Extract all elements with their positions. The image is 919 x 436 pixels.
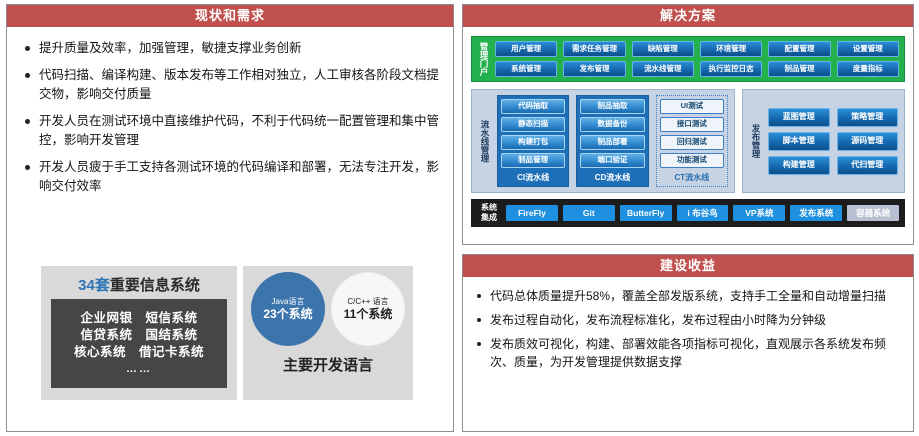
pipeline-management-box: 流水线管理 代码抽取 静态扫描 构建打包 制品管理 CI流水线 制品抽取 数据备… [471, 89, 735, 193]
portal-button[interactable]: 流水线管理 [632, 61, 694, 77]
pipeline-column-caption: CD流水线 [580, 172, 644, 183]
integration-button-git[interactable]: Git [563, 205, 615, 221]
status-bullet-list: 提升质量及效率，加强管理，敏捷支撑业务创新 代码扫描、编译构建、版本发布等工作相… [7, 29, 453, 196]
list-item: 企业网银 短信系统 [80, 310, 197, 327]
list-item: 核心系统 借记卡系统 [74, 344, 204, 361]
venn-circle-java: Java语言 23个系统 [251, 272, 325, 346]
release-button[interactable]: 脚本管理 [768, 132, 830, 151]
system-integration-button-row: FireFly Git ButterFly i 布谷鸟 VP系统 发布系统 容器… [506, 205, 899, 221]
integration-button-cuckoo[interactable]: i 布谷鸟 [677, 205, 729, 221]
management-portal-label: 管理门户 [477, 41, 490, 77]
ct-pipeline-column: UI测试 接口测试 回归测试 功能测试 CT流水线 [656, 95, 728, 187]
solution-panel-title: 解决方案 [463, 5, 913, 29]
bullet-dot-icon [25, 119, 30, 124]
pipeline-step[interactable]: 构建打包 [501, 135, 565, 150]
bullet-dot-icon [25, 46, 30, 51]
list-item: 发布过程自动化，发布流程标准化，发布过程由小时降为分钟级 [475, 311, 901, 329]
pipeline-step[interactable]: 功能测试 [660, 153, 724, 168]
pipeline-column-caption: CT流水线 [660, 172, 724, 183]
status-panel-title: 现状和需求 [7, 5, 453, 29]
important-systems-card: 34套重要信息系统 企业网银 短信系统 信贷系统 国结系统 核心系统 借记卡系统… [41, 266, 237, 400]
pipeline-step[interactable]: 数据备份 [580, 117, 644, 132]
portal-button[interactable]: 发布管理 [563, 61, 625, 77]
venn-caption: 主要开发语言 [243, 354, 413, 375]
system-name-list: 企业网银 短信系统 信贷系统 国结系统 核心系统 借记卡系统 …… [51, 299, 227, 388]
portal-button[interactable]: 执行监控日志 [700, 61, 762, 77]
system-integration-label-line2: 集成 [477, 213, 501, 223]
integration-button-butterfly[interactable]: ButterFly [620, 205, 672, 221]
pipeline-step[interactable]: UI测试 [660, 99, 724, 114]
release-management-box: 发布管理 蓝图管理 策略管理 脚本管理 源码管理 构建管理 代扫管理 [742, 89, 905, 193]
status-and-demand-panel: 现状和需求 提升质量及效率，加强管理，敏捷支撑业务创新 代码扫描、编译构建、版本… [6, 4, 454, 432]
slide-root: 现状和需求 提升质量及效率，加强管理，敏捷支撑业务创新 代码扫描、编译构建、版本… [0, 0, 919, 436]
systems-count-value: 34套 [78, 277, 110, 294]
portal-button[interactable]: 度量指标 [837, 61, 899, 77]
release-button[interactable]: 源码管理 [837, 132, 899, 151]
venn-cpp-label: C/C++ 语言 [347, 296, 388, 307]
important-systems-title: 34套重要信息系统 [51, 274, 227, 295]
middle-layer-row: 流水线管理 代码抽取 静态扫描 构建打包 制品管理 CI流水线 制品抽取 数据备… [471, 89, 905, 193]
release-button[interactable]: 代扫管理 [837, 156, 899, 175]
pipeline-management-label: 流水线管理 [478, 95, 491, 187]
list-item: 信贷系统 国结系统 [80, 327, 197, 344]
status-bullet-text: 提升质量及效率，加强管理，敏捷支撑业务创新 [39, 39, 302, 58]
portal-button[interactable]: 设置管理 [837, 41, 899, 57]
status-bullet-text: 代码扫描、编译构建、版本发布等工作相对独立，人工审核各阶段文档提交物，影响交付质… [39, 66, 439, 104]
release-management-label: 发布管理 [749, 95, 762, 187]
benefit-bullet-text: 发布质效可视化，构建、部署效能各项指标可视化，直观展示各系统发布频次、质量，为开… [490, 335, 901, 371]
integration-button-container[interactable]: 容器系统 [847, 205, 899, 221]
integration-button-vp[interactable]: VP系统 [733, 205, 785, 221]
list-item: 提升质量及效率，加强管理，敏捷支撑业务创新 [23, 39, 439, 58]
venn-java-value: 23个系统 [263, 307, 312, 322]
release-button[interactable]: 构建管理 [768, 156, 830, 175]
status-bullet-text: 开发人员在测试环境中直接维护代码，不利于代码统一配置管理和集中管控，影响开发管理 [39, 112, 439, 150]
system-integration-band: 系统 集成 FireFly Git ButterFly i 布谷鸟 VP系统 发… [471, 199, 905, 227]
portal-button[interactable]: 环境管理 [700, 41, 762, 57]
ci-pipeline-column: 代码抽取 静态扫描 构建打包 制品管理 CI流水线 [497, 95, 569, 187]
portal-button[interactable]: 用户管理 [495, 41, 557, 57]
portal-button[interactable]: 配置管理 [768, 41, 830, 57]
ellipsis-text: …… [126, 361, 152, 378]
solution-panel: 解决方案 管理门户 用户管理 需求任务管理 缺陷管理 环境管理 配置管理 设置管… [462, 4, 914, 245]
management-portal-band: 管理门户 用户管理 需求任务管理 缺陷管理 环境管理 配置管理 设置管理 系统管… [471, 36, 905, 82]
bullet-dot-icon [25, 165, 30, 170]
integration-button-release[interactable]: 发布系统 [790, 205, 842, 221]
pipeline-step[interactable]: 制品管理 [501, 153, 565, 168]
list-item: 开发人员疲于手工支持各测试环境的代码编译和部署，无法专注开发，影响交付效率 [23, 158, 439, 196]
statistics-graphic: 34套重要信息系统 企业网银 短信系统 信贷系统 国结系统 核心系统 借记卡系统… [41, 266, 413, 400]
system-integration-label: 系统 集成 [477, 203, 501, 223]
pipeline-step[interactable]: 端口验证 [580, 153, 644, 168]
benefit-bullet-text: 代码总体质量提升58%，覆盖全部发版系统，支持手工全量和自动增量扫描 [490, 287, 886, 305]
pipeline-step[interactable]: 制品部署 [580, 135, 644, 150]
portal-button[interactable]: 制品管理 [768, 61, 830, 77]
benefit-panel-title: 建设收益 [463, 255, 913, 279]
portal-button[interactable]: 需求任务管理 [563, 41, 625, 57]
pipeline-step[interactable]: 回归测试 [660, 135, 724, 150]
list-item: 代码总体质量提升58%，覆盖全部发版系统，支持手工全量和自动增量扫描 [475, 287, 901, 305]
benefit-panel: 建设收益 代码总体质量提升58%，覆盖全部发版系统，支持手工全量和自动增量扫描 … [462, 254, 914, 432]
pipeline-column-caption: CI流水线 [501, 172, 565, 183]
portal-button[interactable]: 系统管理 [495, 61, 557, 77]
portal-button[interactable]: 缺陷管理 [632, 41, 694, 57]
solution-architecture-diagram: 管理门户 用户管理 需求任务管理 缺陷管理 环境管理 配置管理 设置管理 系统管… [463, 29, 913, 233]
status-bullet-text: 开发人员疲于手工支持各测试环境的代码编译和部署，无法专注开发，影响交付效率 [39, 158, 439, 196]
release-button[interactable]: 策略管理 [837, 108, 899, 127]
pipeline-step[interactable]: 接口测试 [660, 117, 724, 132]
management-portal-button-grid: 用户管理 需求任务管理 缺陷管理 环境管理 配置管理 设置管理 系统管理 发布管… [495, 41, 899, 77]
pipeline-step[interactable]: 制品抽取 [580, 99, 644, 114]
release-button-grid: 蓝图管理 策略管理 脚本管理 源码管理 构建管理 代扫管理 [768, 95, 898, 187]
venn-circle-cpp: C/C++ 语言 11个系统 [331, 272, 405, 346]
bullet-dot-icon [477, 318, 481, 322]
pipeline-step[interactable]: 静态扫描 [501, 117, 565, 132]
bullet-dot-icon [477, 342, 481, 346]
language-venn-card: C/C++ 语言 11个系统 Java语言 23个系统 主要开发语言 [243, 266, 413, 400]
list-item: 代码扫描、编译构建、版本发布等工作相对独立，人工审核各阶段文档提交物，影响交付质… [23, 66, 439, 104]
benefit-bullet-list: 代码总体质量提升58%，覆盖全部发版系统，支持手工全量和自动增量扫描 发布过程自… [463, 279, 913, 371]
pipeline-step[interactable]: 代码抽取 [501, 99, 565, 114]
venn-cpp-value: 11个系统 [344, 307, 393, 322]
integration-button-firefly[interactable]: FireFly [506, 205, 558, 221]
bullet-dot-icon [25, 73, 30, 78]
list-item: 开发人员在测试环境中直接维护代码，不利于代码统一配置管理和集中管控，影响开发管理 [23, 112, 439, 150]
release-button[interactable]: 蓝图管理 [768, 108, 830, 127]
list-item: 发布质效可视化，构建、部署效能各项指标可视化，直观展示各系统发布频次、质量，为开… [475, 335, 901, 371]
systems-title-text: 重要信息系统 [110, 277, 200, 294]
venn-diagram: C/C++ 语言 11个系统 Java语言 23个系统 [251, 272, 405, 346]
pipeline-columns: 代码抽取 静态扫描 构建打包 制品管理 CI流水线 制品抽取 数据备份 制品部署… [497, 95, 728, 187]
benefit-bullet-text: 发布过程自动化，发布流程标准化，发布过程由小时降为分钟级 [490, 311, 826, 329]
system-integration-label-line1: 系统 [477, 203, 501, 213]
bullet-dot-icon [477, 294, 481, 298]
cd-pipeline-column: 制品抽取 数据备份 制品部署 端口验证 CD流水线 [576, 95, 648, 187]
venn-java-label: Java语言 [272, 296, 305, 307]
